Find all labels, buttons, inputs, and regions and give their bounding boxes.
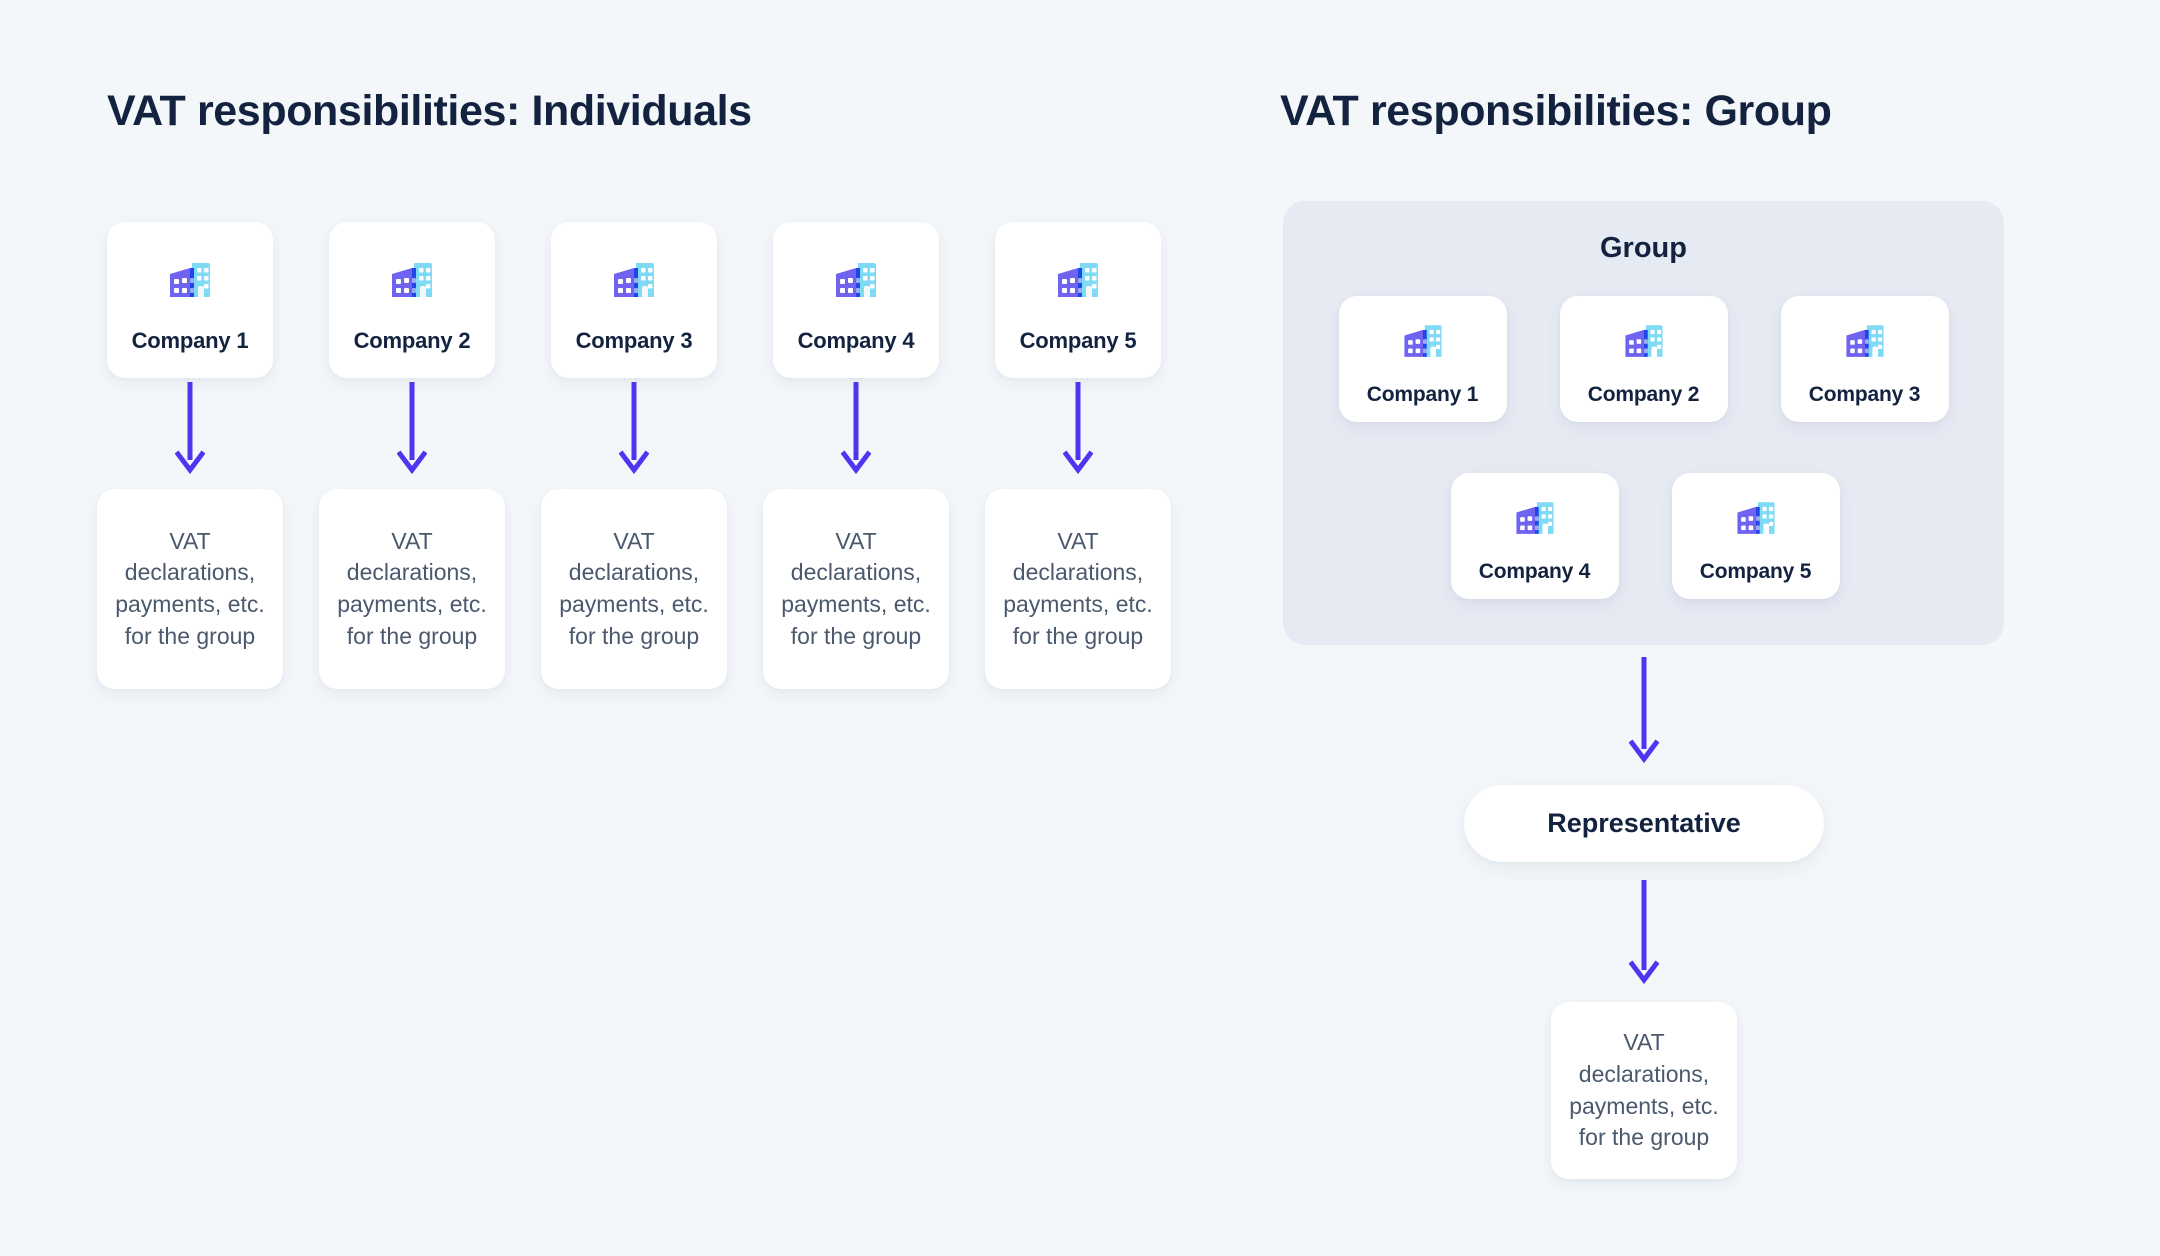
- company-building-icon: [1509, 493, 1561, 550]
- arrow-down-icon-2: [397, 382, 427, 478]
- company-building-icon: [828, 253, 884, 314]
- group-company-row-1: Company 1: [1283, 296, 2004, 422]
- group-company-card-3[interactable]: Company 3: [1781, 296, 1949, 422]
- company-card-label: Company 4: [798, 328, 915, 354]
- company-card-label: Company 1: [132, 328, 249, 354]
- group-company-row-2: Company 4: [1283, 473, 2004, 599]
- vat-note-box-4: VAT declarations, payments, etc. for the…: [763, 489, 949, 689]
- right-panel-title: VAT responsibilities: Group: [1280, 87, 1831, 136]
- arrow-down-icon-3: [619, 382, 649, 478]
- company-card-label: Company 3: [1809, 383, 1920, 407]
- company-building-icon: [1050, 253, 1106, 314]
- group-company-card-5[interactable]: Company 5: [1672, 473, 1840, 599]
- group-company-card-2[interactable]: Company 2: [1560, 296, 1728, 422]
- left-panel-title: VAT responsibilities: Individuals: [107, 87, 752, 136]
- company-building-icon: [606, 253, 662, 314]
- group-container: Group: [1283, 201, 2004, 645]
- arrow-down-icon-5: [1063, 382, 1093, 478]
- company-card-label: Company 4: [1479, 560, 1590, 584]
- arrow-down-icon-4: [841, 382, 871, 478]
- company-building-icon: [384, 253, 440, 314]
- arrow-down-icon-representative-to-vat: [1629, 880, 1659, 988]
- vat-note-text: VAT declarations, payments, etc. for the…: [541, 526, 727, 653]
- vat-note-box-1: VAT declarations, payments, etc. for the…: [97, 489, 283, 689]
- company-card-label: Company 2: [354, 328, 471, 354]
- group-label: Group: [1283, 232, 2004, 265]
- vat-note-text: VAT declarations, payments, etc. for the…: [985, 526, 1171, 653]
- company-building-icon: [1730, 493, 1782, 550]
- group-company-card-4[interactable]: Company 4: [1451, 473, 1619, 599]
- arrow-down-icon-1: [175, 382, 205, 478]
- representative-label: Representative: [1547, 808, 1741, 839]
- vat-note-text: VAT declarations, payments, etc. for the…: [1551, 1027, 1737, 1154]
- company-card-5[interactable]: Company 5: [995, 222, 1161, 378]
- representative-pill[interactable]: Representative: [1464, 785, 1824, 862]
- company-card-3[interactable]: Company 3: [551, 222, 717, 378]
- company-card-label: Company 1: [1367, 383, 1478, 407]
- group-company-card-1[interactable]: Company 1: [1339, 296, 1507, 422]
- company-building-icon: [1839, 316, 1891, 373]
- company-card-label: Company 5: [1020, 328, 1137, 354]
- vat-note-box-2: VAT declarations, payments, etc. for the…: [319, 489, 505, 689]
- company-building-icon: [1618, 316, 1670, 373]
- company-card-1[interactable]: Company 1: [107, 222, 273, 378]
- company-building-icon: [162, 253, 218, 314]
- vat-note-text: VAT declarations, payments, etc. for the…: [763, 526, 949, 653]
- company-card-label: Company 2: [1588, 383, 1699, 407]
- company-building-icon: [1397, 316, 1449, 373]
- company-card-4[interactable]: Company 4: [773, 222, 939, 378]
- company-card-label: Company 5: [1700, 560, 1811, 584]
- vat-note-box-group: VAT declarations, payments, etc. for the…: [1551, 1002, 1737, 1179]
- vat-note-box-5: VAT declarations, payments, etc. for the…: [985, 489, 1171, 689]
- vat-note-text: VAT declarations, payments, etc. for the…: [319, 526, 505, 653]
- vat-note-box-3: VAT declarations, payments, etc. for the…: [541, 489, 727, 689]
- arrow-down-icon-group-to-representative: [1629, 657, 1659, 767]
- company-card-label: Company 3: [576, 328, 693, 354]
- vat-note-text: VAT declarations, payments, etc. for the…: [97, 526, 283, 653]
- company-card-2[interactable]: Company 2: [329, 222, 495, 378]
- diagram-canvas: VAT responsibilities: Individuals: [0, 0, 2160, 1256]
